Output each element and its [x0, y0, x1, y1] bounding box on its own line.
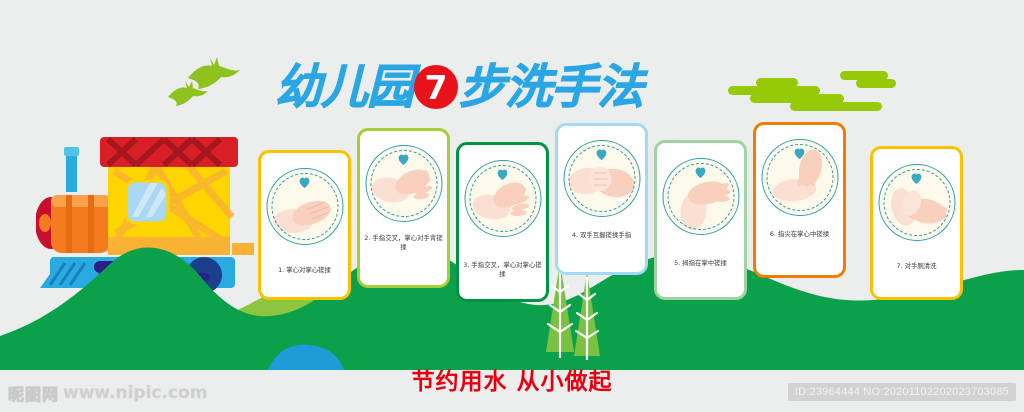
- step-caption-4: 4. 双手互握搓揉手指: [562, 231, 641, 240]
- heart-icon-2: [397, 153, 410, 166]
- poster-canvas: 幼儿园 7 步洗手法: [0, 0, 1024, 412]
- heart-icon-7: [910, 172, 923, 185]
- watermark-logo: 昵图网: [8, 381, 59, 405]
- step-caption-5: 5. 拇指在掌中搓揉: [661, 259, 740, 268]
- step-card-6[interactable]: 6. 指尖在掌心中搓揉: [753, 122, 846, 278]
- step-photo-6: [761, 139, 838, 216]
- cloud-bar-6: [856, 79, 896, 88]
- step-card-7[interactable]: 7. 对手腕清洗: [870, 146, 963, 300]
- heart-icon-4: [595, 148, 608, 161]
- pine-tree-right: [568, 272, 606, 360]
- poster-title: 幼儿园 7 步洗手法: [275, 56, 745, 118]
- bird-icon-small: [167, 80, 209, 108]
- title-part-1: 幼儿园: [275, 64, 413, 111]
- step-caption-3: 3. 手指交叉，掌心对掌心搓揉: [463, 261, 542, 280]
- step-card-1[interactable]: 1. 掌心对掌心搓揉: [258, 150, 351, 300]
- step-photo-3: [464, 160, 541, 237]
- train-chimney: [66, 150, 77, 192]
- step-caption-2: 2. 手指交叉，掌心对手背搓揉: [364, 234, 443, 253]
- step-caption-6: 6. 指尖在掌心中搓揉: [760, 230, 839, 239]
- step-card-4[interactable]: 4. 双手互握搓揉手指: [555, 123, 648, 275]
- title-part-2: 步洗手法: [459, 64, 643, 111]
- step-card-3[interactable]: 3. 手指交叉，掌心对掌心搓揉: [456, 142, 549, 302]
- watermark: 昵图网 www.nipic.com: [8, 381, 207, 405]
- step-photo-4: [563, 140, 640, 217]
- step-photo-5: [662, 158, 739, 235]
- step-count-badge: 7: [414, 65, 458, 109]
- step-photo-2: [365, 145, 442, 222]
- step-caption-7: 7. 对手腕清洗: [877, 262, 956, 271]
- heart-icon-6: [793, 147, 806, 160]
- step-card-2[interactable]: 2. 手指交叉，掌心对手背搓揉: [357, 128, 450, 288]
- heart-icon-1: [298, 176, 311, 189]
- step-card-5[interactable]: 5. 拇指在掌中搓揉: [654, 140, 747, 300]
- cloud-bar-2: [756, 78, 798, 87]
- step-photo-7: [878, 164, 955, 241]
- heart-icon-5: [694, 166, 707, 179]
- step-caption-1: 1. 掌心对掌心搓揉: [265, 266, 344, 275]
- image-id-badge: ID:23964444 NO:20201102202023703085: [788, 383, 1016, 401]
- step-photo-1: [266, 168, 343, 245]
- watermark-site: www.nipic.com: [63, 383, 207, 403]
- heart-icon-3: [496, 168, 509, 181]
- cloud-bar-4: [790, 102, 882, 111]
